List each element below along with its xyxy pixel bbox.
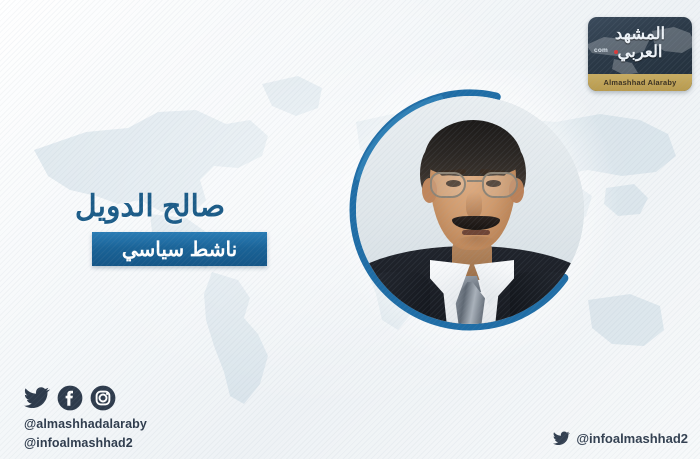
- person-role-label: ناشط سياسي: [122, 237, 237, 262]
- portrait-photo: [356, 96, 584, 324]
- logo-latin-band: Almashhad Alaraby: [588, 74, 692, 91]
- logo-arabic-line1: المشهد: [615, 25, 665, 43]
- twitter-icon[interactable]: [24, 385, 50, 411]
- handle-primary[interactable]: @almashhadalaraby: [24, 415, 147, 434]
- person-role-badge: ناشط سياسي: [92, 232, 267, 266]
- handle-secondary[interactable]: @infoalmashhad2: [24, 434, 147, 453]
- social-handles: @almashhadalaraby @infoalmashhad2: [24, 415, 147, 453]
- promo-card: صالح الدويل ناشط سياسي المشهد العربي com…: [0, 0, 700, 459]
- brand-logo[interactable]: المشهد العربي com Almashhad Alaraby: [588, 17, 692, 91]
- social-icons: [24, 385, 147, 411]
- logo-dot-icon: [614, 50, 618, 54]
- footer-twitter[interactable]: @infoalmashhad2: [553, 430, 688, 447]
- portrait: [345, 85, 595, 335]
- twitter-icon: [553, 430, 570, 447]
- logo-latin-label: Almashhad Alaraby: [604, 78, 677, 87]
- footer-twitter-handle: @infoalmashhad2: [576, 431, 688, 446]
- logo-com-label: com: [594, 47, 608, 54]
- person-name: صالح الدويل: [0, 190, 300, 223]
- instagram-icon[interactable]: [90, 385, 116, 411]
- social-block: @almashhadalaraby @infoalmashhad2: [24, 385, 147, 453]
- logo-arabic-text: المشهد العربي: [588, 26, 692, 61]
- facebook-icon[interactable]: [57, 385, 83, 411]
